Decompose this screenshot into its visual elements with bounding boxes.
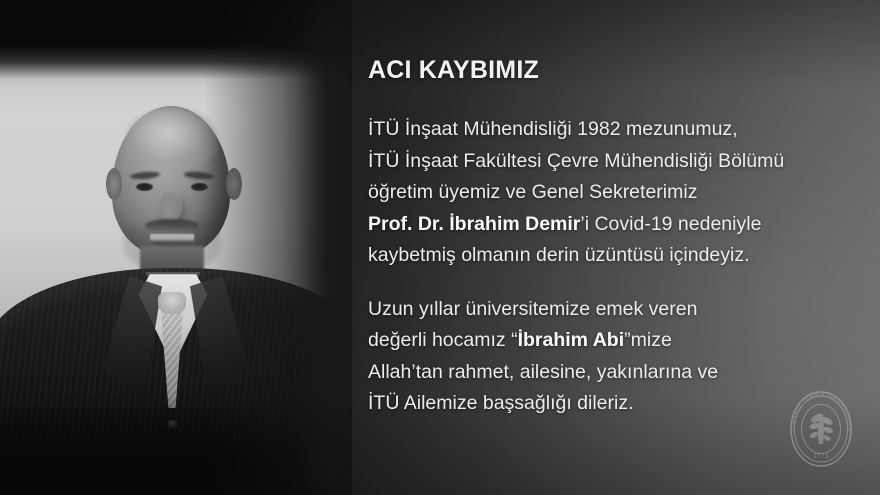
nickname-prefix: değerli hocamız “	[368, 329, 518, 351]
deceased-nickname: İbrahim Abi	[518, 329, 625, 351]
paragraph-two-line-3: Allah’tan rahmet, ailesine, yakınlarına …	[368, 357, 860, 389]
paragraph-two-line-2: değerli hocamız “İbrahim Abi”mize	[368, 325, 860, 357]
cause-of-death-text: ’i Covid-19 nedeniyle	[580, 213, 761, 235]
memorial-body: İTÜ İnşaat Mühendisliği 1982 mezunumuz, …	[368, 114, 860, 420]
paragraph-one: İTÜ İnşaat Mühendisliği 1982 mezunumuz, …	[368, 114, 860, 272]
deceased-name: Prof. Dr. İbrahim Demir	[368, 213, 580, 235]
paragraph-one-line-4: Prof. Dr. İbrahim Demir’i Covid-19 neden…	[368, 209, 860, 241]
paragraph-one-line-1: İTÜ İnşaat Mühendisliği 1982 mezunumuz,	[368, 114, 860, 146]
itu-seal-icon: İSTANBUL TEKNİK ÜNİVERSİTESİ 1773	[784, 388, 858, 470]
paragraph-one-line-3: öğretim üyemiz ve Genel Sekreterimiz	[368, 177, 860, 209]
memorial-poster: ACI KAYBIMIZ İTÜ İnşaat Mühendisliği 198…	[0, 0, 880, 495]
nickname-suffix: ”mize	[624, 329, 672, 351]
svg-text:1773: 1773	[813, 454, 829, 460]
paragraph-two-line-1: Uzun yıllar üniversitemize emek veren	[368, 294, 860, 326]
paragraph-one-line-2: İTÜ İnşaat Fakültesi Çevre Mühendisliği …	[368, 146, 860, 178]
page-title: ACI KAYBIMIZ	[368, 56, 539, 85]
paragraph-one-line-5: kaybetmiş olmanın derin üzüntüsü içindey…	[368, 240, 860, 272]
